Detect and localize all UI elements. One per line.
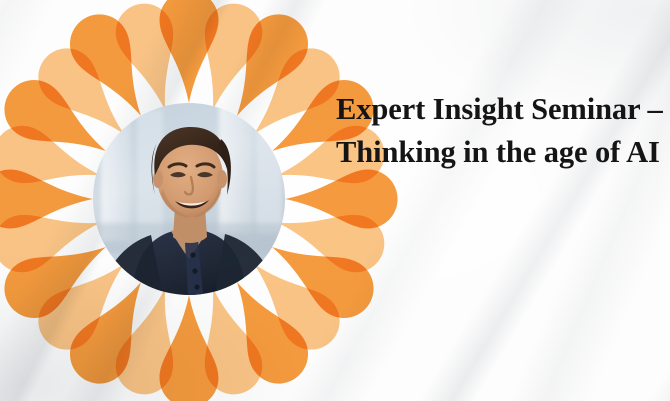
petal-shape [285, 170, 398, 229]
speaker-portrait [93, 103, 285, 295]
seminar-title-slide: Expert Insight Seminar – Thinking in the… [0, 0, 670, 401]
page-title: Expert Insight Seminar – Thinking in the… [336, 88, 666, 174]
